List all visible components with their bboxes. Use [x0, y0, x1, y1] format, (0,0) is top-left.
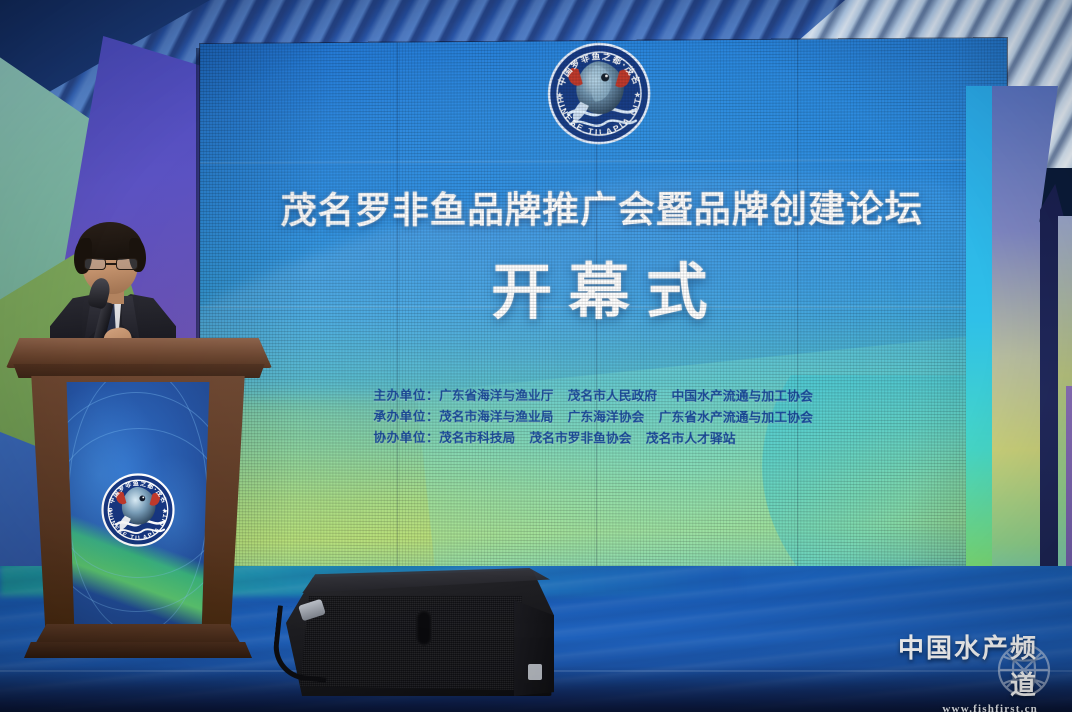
podium-top-trim [8, 364, 270, 378]
organizer-item: 茂名市人才驿站 [646, 431, 736, 445]
led-display-screen: 中国罗非鱼之都·茂名 CHINESE TILAPIA CITY ★ ★ 茂名罗非… [200, 38, 1007, 590]
monitor-connector-port [528, 664, 542, 680]
organizer-item: 茂名市人民政府 [568, 389, 657, 403]
organizer-line-host: 主办单位：广东省海洋与渔业厅茂名市人民政府中国水产流通与加工协会 [373, 385, 827, 407]
led-screen-content: 中国罗非鱼之都·茂名 CHINESE TILAPIA CITY ★ ★ 茂名罗非… [200, 38, 1007, 590]
organizer-item: 茂名市海洋与渔业局 [439, 409, 553, 423]
eyeglass-bridge [106, 263, 116, 265]
organizer-label: 协办单位： [373, 430, 439, 444]
speaking-podium: 中国罗非鱼之都·茂名 CHINESE TILAPIA CITY ★ ★ [2, 338, 278, 668]
monitor-cable [270, 605, 333, 682]
organizer-line-coorganizer: 协办单位：茂名市科技局茂名市罗非鱼协会茂名市人才驿站 [373, 427, 827, 450]
podium-emblem-star-left: ★ [107, 508, 113, 515]
organizer-item: 茂名市罗非鱼协会 [529, 431, 631, 445]
organizer-item: 茂名市科技局 [439, 430, 515, 444]
event-title-sub: 开幕式 [475, 243, 724, 331]
eyeglasses-icon [84, 258, 138, 270]
organizer-line-organizer: 承办单位：茂名市海洋与渔业局广东海洋协会广东省水产流通与加工协会 [373, 406, 827, 428]
podium-emblem-star-right: ★ [162, 508, 168, 515]
watermark-text: 中国水产频道 www.fishfirst.cn [874, 628, 1064, 712]
organizer-item: 中国水产流通与加工协会 [671, 389, 813, 404]
stage-monitor-speaker [278, 556, 566, 702]
podium-base-plinth [24, 642, 252, 658]
organizer-label: 承办单位： [373, 409, 439, 423]
event-title-main: 茂名罗非鱼品牌推广会暨品牌创建论坛 [281, 179, 923, 233]
podium-front-panel: 中国罗非鱼之都·茂名 CHINESE TILAPIA CITY ★ ★ [62, 382, 214, 624]
watermark-url: www.fishfirst.cn [874, 703, 1038, 712]
monitor-handle [416, 610, 432, 646]
emblem-svg: 中国罗非鱼之都·茂名 CHINESE TILAPIA CITY ★ ★ [544, 38, 654, 152]
eyeglass-lens-left [84, 258, 106, 270]
emblem-star-right: ★ [634, 90, 641, 99]
organizer-label: 主办单位： [373, 388, 439, 402]
organizer-item: 广东省水产流通与加工协会 [659, 410, 813, 425]
organizer-item: 广东海洋协会 [568, 410, 645, 424]
podium-emblem-svg: 中国罗非鱼之都·茂名 CHINESE TILAPIA CITY ★ ★ [96, 468, 180, 552]
stage-photo-scene: 中国罗非鱼之都·茂名 CHINESE TILAPIA CITY ★ ★ 茂名罗非… [0, 0, 1072, 712]
eyeglass-lens-right [116, 258, 138, 270]
podium-lectern-top [6, 338, 272, 368]
wing-cyan-strip [966, 86, 996, 606]
emblem-star-left: ★ [556, 91, 563, 100]
organizer-credits: 主办单位：广东省海洋与渔业厅茂名市人民政府中国水产流通与加工协会 承办单位：茂名… [373, 385, 827, 449]
podium-emblem: 中国罗非鱼之都·茂名 CHINESE TILAPIA CITY ★ ★ [96, 468, 180, 557]
stage-right-wing [966, 86, 1072, 606]
watermark-channel-name: 中国水产频道 [874, 628, 1038, 702]
monitor-side-face [514, 600, 554, 696]
chinese-tilapia-city-emblem: 中国罗非鱼之都·茂名 CHINESE TILAPIA CITY ★ ★ [544, 38, 654, 152]
organizer-item: 广东省海洋与渔业厅 [439, 388, 553, 402]
fishfirst-watermark: 中国水产频道 www.fishfirst.cn [874, 638, 1064, 704]
